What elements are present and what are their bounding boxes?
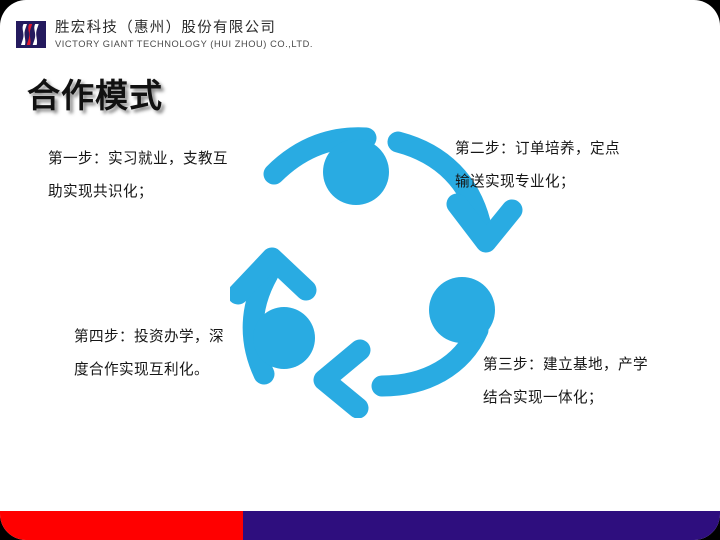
company-name-en: VICTORY GIANT TECHNOLOGY (HUI ZHOU) CO.,… xyxy=(55,38,313,50)
step-2-line-2: 输送实现专业化； xyxy=(455,165,620,198)
footer-bar-red xyxy=(0,511,243,540)
step-3-line-2: 结合实现一体化； xyxy=(483,381,648,414)
slide-canvas: 胜宏科技（惠州）股份有限公司 VICTORY GIANT TECHNOLOGY … xyxy=(0,0,720,540)
step-1-line-1: 第一步：实习就业，支教互 xyxy=(48,142,228,175)
company-logo-block: 胜宏科技（惠州）股份有限公司 VICTORY GIANT TECHNOLOGY … xyxy=(16,20,313,50)
step-2-line-1: 第二步：订单培养，定点 xyxy=(455,132,620,165)
cycle-node-right xyxy=(429,277,495,343)
step-4-text: 第四步：投资办学，深 度合作实现互利化。 xyxy=(74,320,224,386)
page-title: 合作模式 xyxy=(27,76,163,116)
step-4-line-1: 第四步：投资办学，深 xyxy=(74,320,224,353)
step-3-line-1: 第三步：建立基地，产学 xyxy=(483,348,648,381)
footer-bar xyxy=(0,511,720,540)
cycle-node-bottom xyxy=(253,307,315,369)
cycle-node-top xyxy=(323,139,389,205)
step-2-text: 第二步：订单培养，定点 输送实现专业化； xyxy=(455,132,620,198)
company-name-group: 胜宏科技（惠州）股份有限公司 VICTORY GIANT TECHNOLOGY … xyxy=(55,20,313,50)
step-1-line-2: 助实现共识化； xyxy=(48,175,228,208)
step-4-line-2: 度合作实现互利化。 xyxy=(74,353,224,386)
footer-bar-purple xyxy=(243,511,720,540)
step-3-text: 第三步：建立基地，产学 结合实现一体化； xyxy=(483,348,648,414)
company-name-cn: 胜宏科技（惠州）股份有限公司 xyxy=(55,20,313,37)
victory-giant-s-mark-icon xyxy=(16,21,46,48)
step-1-text: 第一步：实习就业，支教互 助实现共识化； xyxy=(48,142,228,208)
